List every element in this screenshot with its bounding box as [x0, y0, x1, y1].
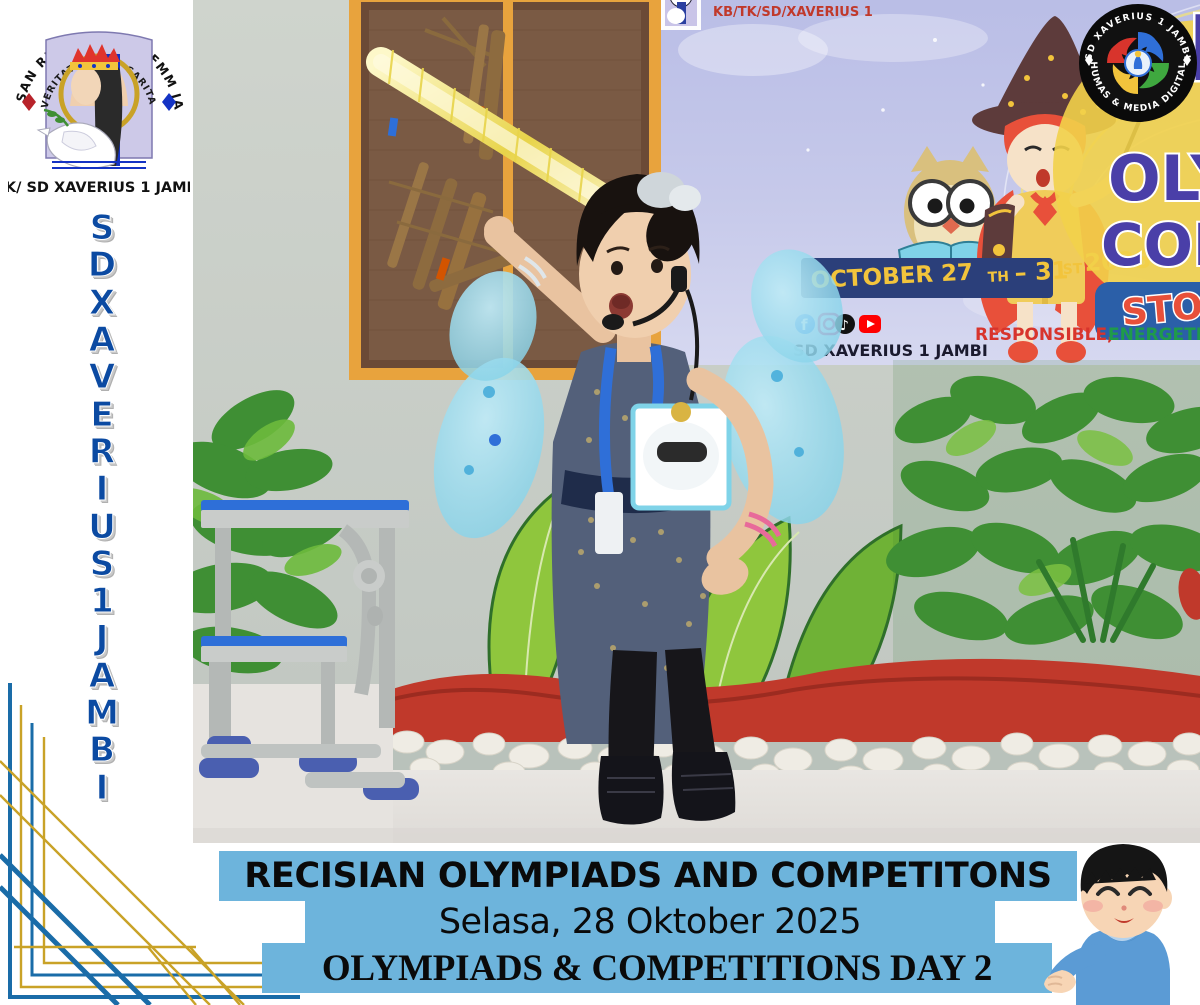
svg-text:OLYMP: OLYMP [1108, 142, 1200, 215]
caption-subtitle-text: OLYMPIADS & COMPETITIONS DAY 2 [322, 947, 992, 990]
svg-text:RESPONSIBLE,: RESPONSIBLE, [975, 325, 1114, 345]
poster-root: YAYASAN REGINA PACIS FMM KB/TK/SD/XAVERI… [0, 0, 1200, 1005]
banner-tagline: RESPONSIBLE, ENERGETIC, CONFI [975, 325, 1200, 345]
svg-text:TH: TH [987, 269, 1009, 286]
event-photo: YAYASAN REGINA PACIS FMM KB/TK/SD/XAVERI… [193, 0, 1200, 843]
vertical-letter: D [88, 249, 116, 282]
caption-date-text: Selasa, 28 Oktober 2025 [439, 902, 861, 942]
svg-text:COMPE: COMPE [1101, 211, 1200, 279]
vertical-letter: S [90, 212, 115, 245]
garden-border [389, 659, 1200, 786]
vertical-letter: A [89, 324, 115, 357]
photo-illustration: YAYASAN REGINA PACIS FMM KB/TK/SD/XAVERI… [193, 0, 1200, 843]
foliage-right [881, 360, 1200, 690]
vertical-letter: U [88, 511, 116, 544]
svg-text:– 31: – 31 [1014, 256, 1069, 287]
vertical-letter: S [90, 548, 115, 581]
school-logo: YAYASAN REGINA PACIS FMM JAMBI AD VERITA… [8, 2, 190, 198]
caption-subtitle-bar: OLYMPIADS & COMPETITIONS DAY 2 [262, 943, 1052, 993]
svg-text:ST: ST [1062, 261, 1083, 278]
media-team-watermark: SD XAVERIUS 1 JAMBI HUMAS & MEDIA DIGITA… [1077, 2, 1199, 124]
logo-caption-text: TK/ SD XAVERIUS 1 JAMBI [8, 180, 190, 196]
vertical-letter: E [90, 399, 113, 432]
caption-title-bar: RECISIAN OLYMPIADS AND COMPETITONS [219, 851, 1077, 901]
vertical-letter: X [89, 287, 115, 320]
caption-title-text: RECISIAN OLYMPIADS AND COMPETITONS [244, 856, 1052, 896]
vertical-letter: J [96, 622, 109, 655]
vertical-letter: R [89, 436, 115, 469]
banner-org-line2: KB/TK/SD/XAVERIUS 1 [713, 5, 873, 20]
svg-text:ENERGETIC,: ENERGETIC, [1108, 325, 1200, 345]
media-team-watermark-svg: SD XAVERIUS 1 JAMBI HUMAS & MEDIA DIGITA… [1077, 2, 1199, 124]
caption-date-bar: Selasa, 28 Oktober 2025 [305, 899, 995, 945]
cartoon-boy-mascot-svg [1040, 838, 1200, 1005]
school-logo-svg: YAYASAN REGINA PACIS FMM JAMBI AD VERITA… [8, 2, 190, 198]
cartoon-boy-mascot [1040, 838, 1200, 1005]
vertical-letter: V [89, 361, 115, 394]
vertical-letter: I [96, 473, 109, 506]
vertical-letter: 1 [90, 585, 114, 618]
